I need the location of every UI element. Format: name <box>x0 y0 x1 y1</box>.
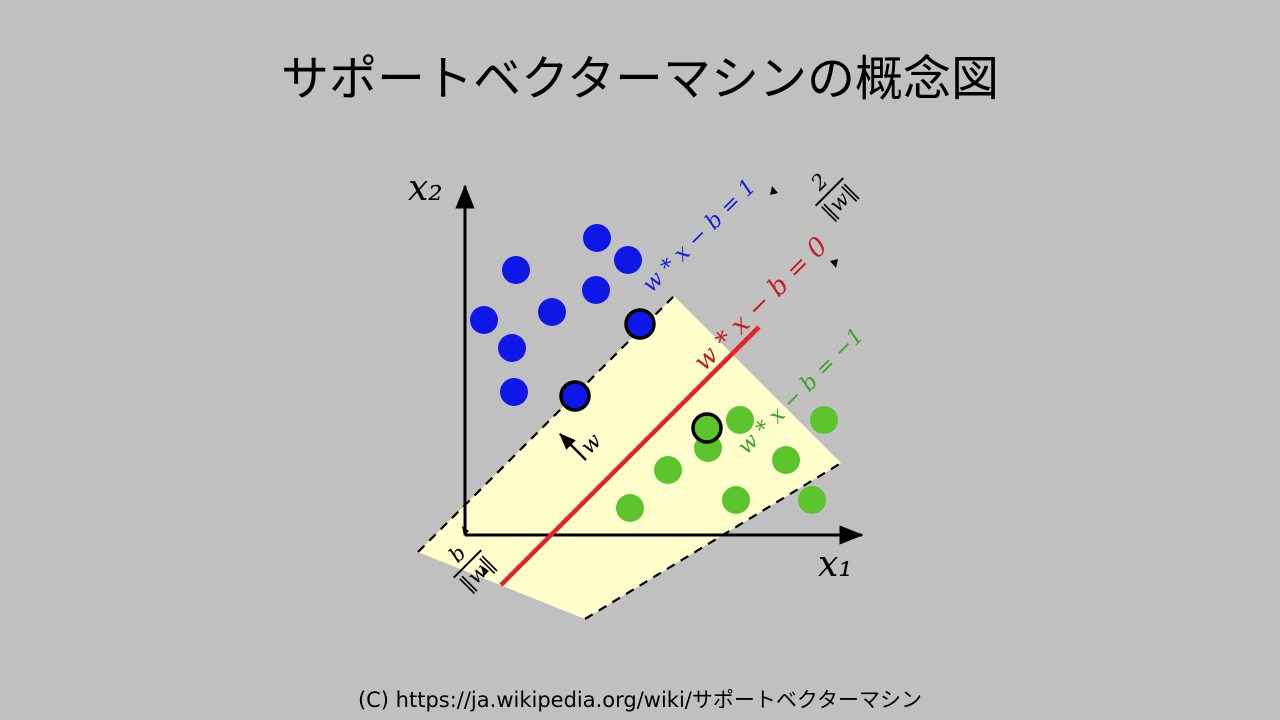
data-point <box>583 224 611 252</box>
slide: サポートベクターマシンの概念図 <box>0 0 1280 720</box>
support-vector <box>693 414 721 442</box>
data-point <box>722 486 750 514</box>
data-point <box>498 334 526 362</box>
source-attribution: (C) https://ja.wikipedia.org/wiki/サポートベク… <box>0 686 1280 714</box>
data-point <box>616 494 644 522</box>
data-point <box>500 378 528 406</box>
data-point <box>772 446 800 474</box>
data-point <box>798 486 826 514</box>
svm-concept-diagram: x₂ x₁ w * x − b = 1 w * x − b = 0 w * x … <box>400 160 900 640</box>
data-point <box>810 406 838 434</box>
data-point <box>614 246 642 274</box>
data-point <box>582 276 610 304</box>
data-point <box>502 256 530 284</box>
data-point <box>470 306 498 334</box>
support-vector <box>626 310 654 338</box>
support-vector <box>561 382 589 410</box>
data-point <box>654 456 682 484</box>
page-title: サポートベクターマシンの概念図 <box>0 48 1280 110</box>
y-axis-label: x₂ <box>408 168 443 209</box>
x-axis-label: x₁ <box>818 544 853 585</box>
data-point <box>538 298 566 326</box>
